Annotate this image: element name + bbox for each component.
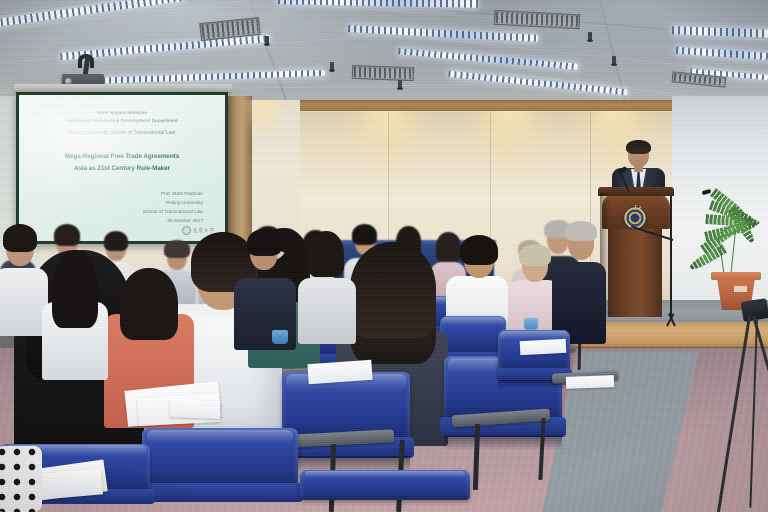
drinking-cup — [272, 330, 288, 344]
handout-paper — [566, 375, 614, 389]
mic-boom-pole — [670, 196, 672, 316]
screen-glare — [19, 95, 225, 241]
patterned-garment — [0, 446, 42, 512]
projection-screen: Bank Negara Malaysia Continuing Professi… — [16, 92, 228, 244]
pillar-downlight-glow — [236, 100, 294, 196]
microphone-cable — [600, 300, 680, 314]
plant-pot-label — [734, 286, 747, 292]
audience-chair — [282, 372, 410, 470]
plant-pot-rim — [711, 272, 761, 280]
speaker-hair — [626, 140, 651, 154]
audience-chair — [300, 470, 470, 512]
sprinkler-head — [588, 32, 592, 41]
sprinkler-head — [612, 56, 616, 65]
lecture-hall-photo: Bank Negara Malaysia Continuing Professi… — [0, 0, 768, 512]
audience-member — [298, 232, 356, 344]
handout-paper — [520, 339, 567, 355]
handout-paper — [170, 399, 221, 419]
audience-member — [552, 224, 606, 344]
wall-cornice — [300, 100, 672, 111]
audience-chair — [142, 428, 298, 512]
drinking-cup — [524, 318, 538, 330]
ceiling-vent — [352, 65, 414, 81]
sprinkler-head — [398, 80, 402, 89]
audience-member — [0, 226, 48, 336]
sprinkler-head — [265, 36, 269, 45]
podium-head — [602, 193, 670, 229]
audience-member — [42, 250, 108, 380]
lectern-podium — [600, 187, 672, 317]
sprinkler-head — [330, 62, 334, 71]
